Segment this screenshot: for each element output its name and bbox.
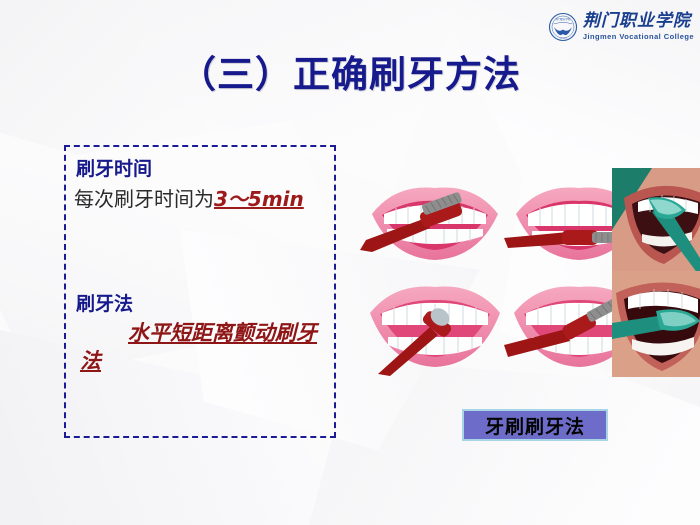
svg-text:1 9 8 3: 1 9 8 3	[559, 38, 567, 40]
college-logo: 荆门职业学院 1 9 8 3 荆门职业学院 Jingmen Vocational…	[548, 12, 694, 42]
logo-chinese-name: 荆门职业学院	[583, 13, 694, 30]
brushing-time-heading: 刷牙时间	[76, 154, 152, 181]
technique-image-grid	[360, 166, 660, 381]
illustration-brush-lower-inner	[360, 269, 510, 376]
brushing-time-value: 3～5min	[214, 187, 304, 211]
background-facet	[300, 360, 700, 525]
slide-title: （三）正确刷牙方法	[0, 44, 700, 98]
photo-brushing-lower-arch	[612, 271, 700, 377]
logo-english-name: Jingmen Vocational College	[583, 33, 694, 41]
illustration-brush-upper-outer	[360, 166, 510, 273]
brushing-method-heading: 刷牙法	[76, 289, 133, 316]
technique-caption-label: 牙刷刷牙法	[485, 412, 585, 439]
photo-brushing-upper-arch	[612, 168, 700, 274]
slide-canvas: 荆门职业学院 1 9 8 3 荆门职业学院 Jingmen Vocational…	[0, 0, 700, 525]
brushing-method-value: 水平短距离颤动刷牙法	[80, 319, 330, 374]
brushing-time-sentence: 每次刷牙时间为3～5min	[74, 183, 304, 212]
info-box: 刷牙时间 每次刷牙时间为3～5min 刷牙法 水平短距离颤动刷牙法	[64, 145, 336, 438]
technique-caption-box: 牙刷刷牙法	[462, 409, 608, 441]
svg-text:荆门职业学院: 荆门职业学院	[555, 17, 571, 21]
college-emblem-icon: 荆门职业学院 1 9 8 3	[548, 12, 578, 42]
brushing-time-prefix: 每次刷牙时间为	[74, 187, 214, 211]
